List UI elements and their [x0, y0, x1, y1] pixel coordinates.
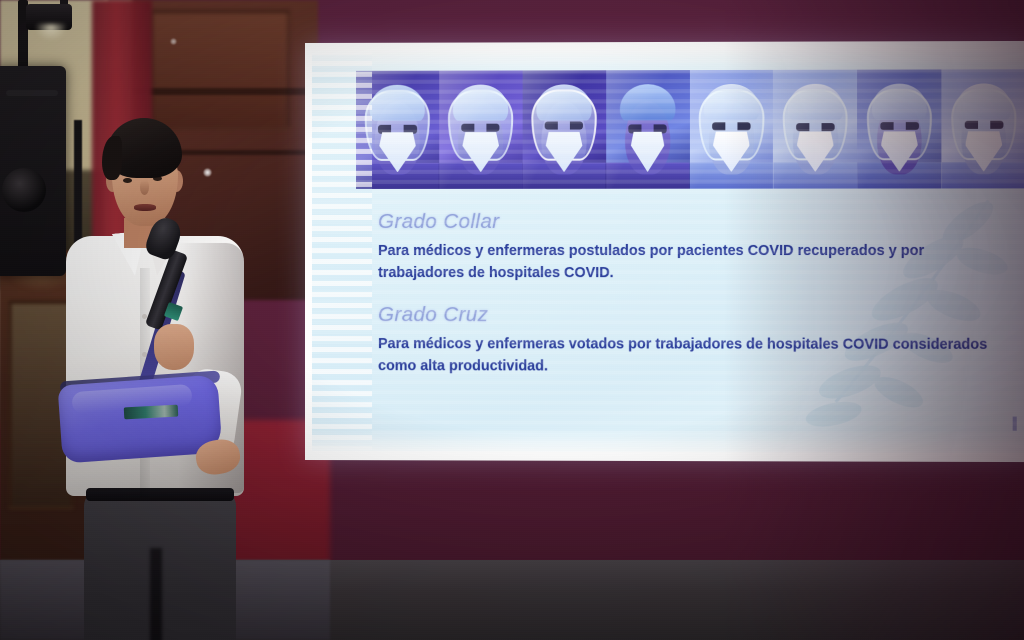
press-conference-scene: Grado Collar Para médicos y enfermeras p… — [0, 0, 1024, 640]
scene-vignette — [0, 0, 1024, 640]
